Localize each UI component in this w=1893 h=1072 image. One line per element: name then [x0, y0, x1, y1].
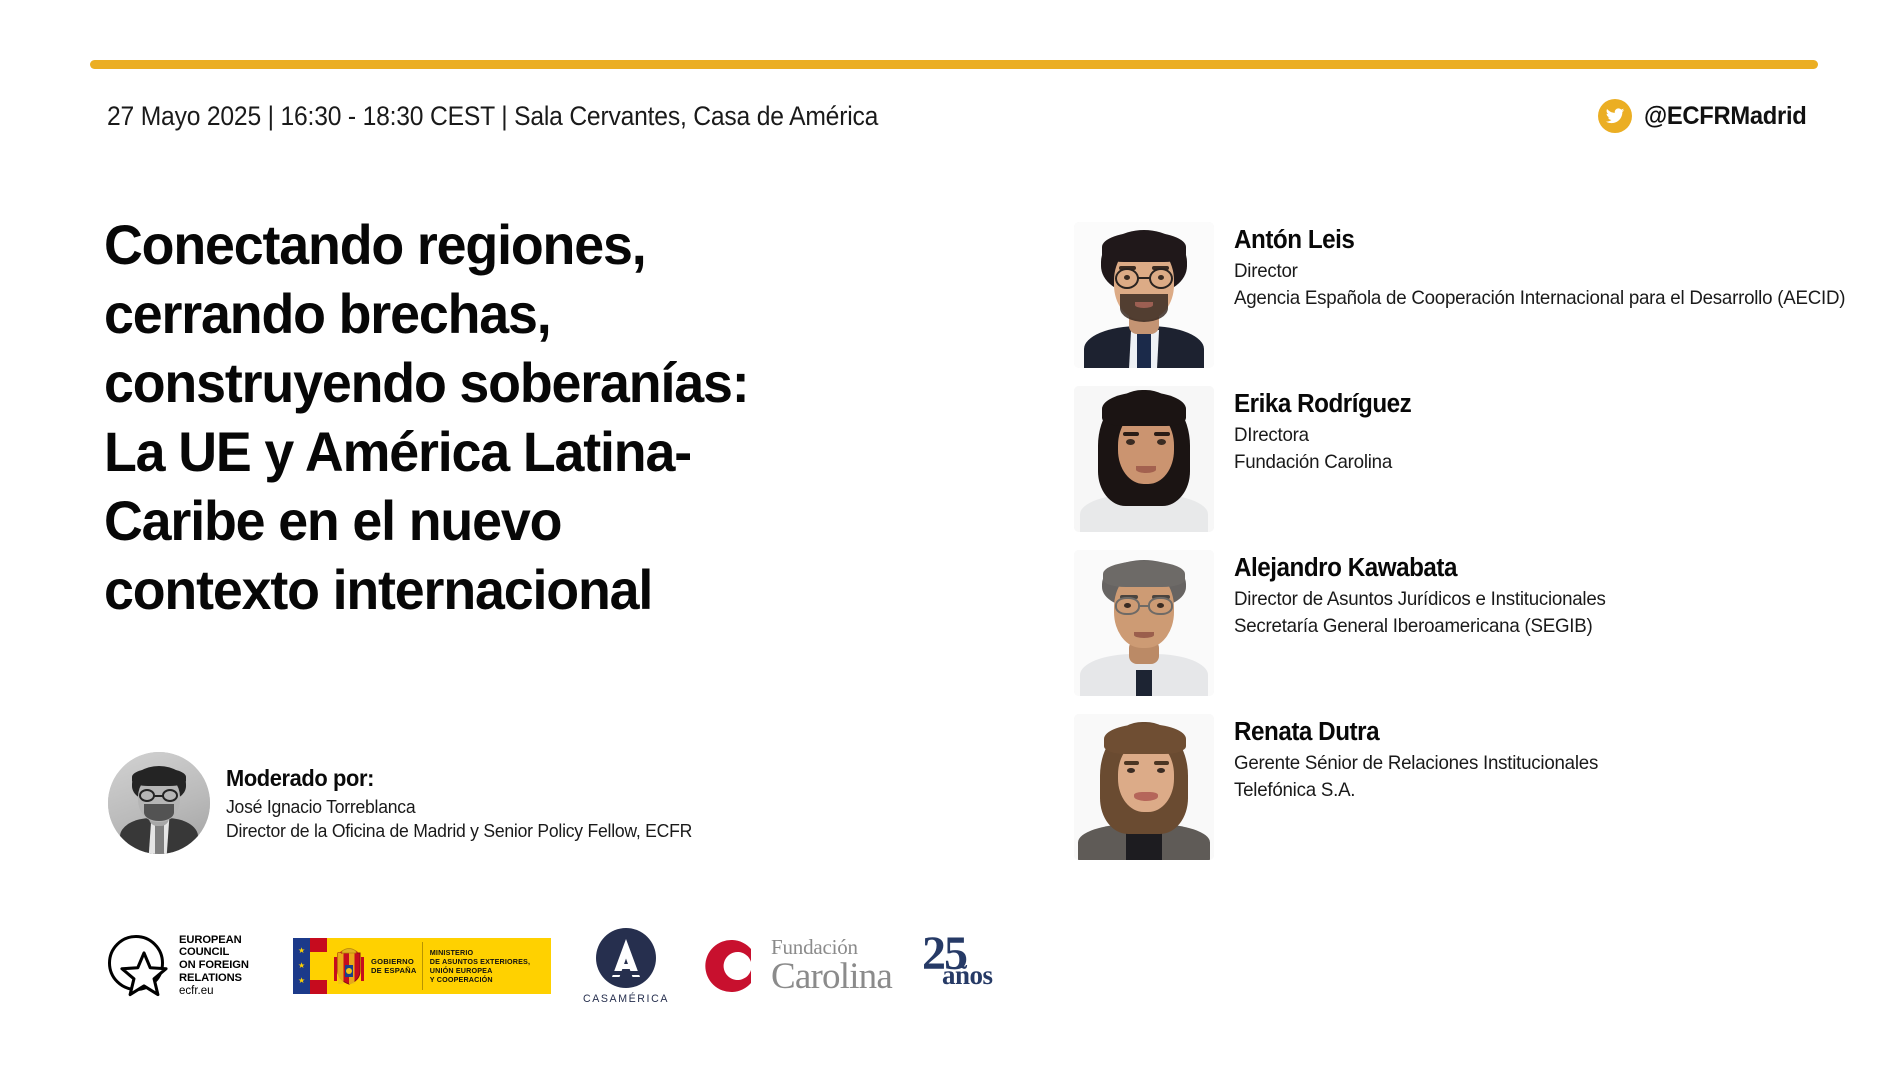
gobierno-line-2: DE ESPAÑA — [371, 966, 422, 976]
speaker-photo — [1074, 550, 1214, 696]
speaker-item: Renata Dutra Gerente Sénior de Relacione… — [1074, 714, 1874, 860]
fundacion-carolina-logo: Fundación Carolina — [697, 935, 892, 997]
speaker-role: DIrectora — [1234, 422, 1413, 449]
moderator-name: José Ignacio Torreblanca — [226, 795, 692, 819]
speaker-role: Director de Asuntos Jurídicos e Instituc… — [1234, 586, 1606, 613]
spain-eu-flag-icon: ★ ★ ★ — [293, 938, 327, 994]
speaker-org: Agencia Española de Cooperación Internac… — [1234, 285, 1845, 312]
ecfr-line-2: COUNCIL — [179, 946, 249, 959]
sponsor-logo-strip: EUROPEAN COUNCIL ON FOREIGN RELATIONS ec… — [108, 920, 1000, 1012]
speaker-name: Alejandro Kawabata — [1234, 554, 1602, 583]
title-line-3: construyendo soberanías: — [104, 348, 891, 417]
moderator-heading: Moderado por: — [226, 765, 692, 792]
speaker-org: Fundación Carolina — [1234, 449, 1413, 476]
top-accent-rule — [90, 60, 1818, 69]
title-line-4: La UE y América Latina- — [104, 417, 891, 486]
speaker-name: Renata Dutra — [1234, 718, 1594, 747]
speaker-photo — [1074, 714, 1214, 860]
casa-america-wordmark: CASAMÉRICA — [579, 993, 673, 1005]
speaker-photo — [1074, 386, 1214, 532]
twitter-icon — [1598, 99, 1632, 133]
social-handle-group: @ECFRMadrid — [1598, 99, 1815, 133]
carolina-line-1: Fundación — [771, 936, 892, 958]
ecfr-line-4: RELATIONS — [179, 972, 249, 985]
ecfr-logo: EUROPEAN COUNCIL ON FOREIGN RELATIONS ec… — [108, 934, 263, 998]
title-line-6: contexto internacional — [104, 555, 891, 624]
speaker-org: Telefónica S.A. — [1234, 777, 1598, 804]
title-line-2: cerrando brechas, — [104, 279, 891, 348]
event-meta-line: 27 Mayo 2025 | 16:30 - 18:30 CEST | Sala… — [107, 101, 878, 132]
casa-america-a-icon — [595, 927, 657, 989]
aniversario-word: años — [942, 962, 993, 989]
social-handle-text: @ECFRMadrid — [1644, 102, 1807, 131]
moderator-avatar — [108, 752, 210, 854]
title-line-5: Caribe en el nuevo — [104, 486, 891, 555]
carolina-line-2: Carolina — [771, 958, 892, 996]
speakers-list: Antón Leis Director Agencia Española de … — [1074, 222, 1874, 878]
moderator-role: Director de la Oficina de Madrid y Senio… — [226, 819, 692, 843]
ecfr-line-3: ON FOREIGN — [179, 959, 249, 972]
gobierno-line-1: GOBIERNO — [371, 957, 422, 967]
speaker-name: Antón Leis — [1234, 226, 1839, 255]
speaker-item: Erika Rodríguez DIrectora Fundación Caro… — [1074, 386, 1874, 532]
speaker-name: Erika Rodríguez — [1234, 390, 1411, 419]
carolina-c-icon — [697, 935, 759, 997]
ministerio-line-3: Y COOPERACIÓN — [430, 975, 547, 984]
ecfr-star-icon — [108, 935, 170, 997]
ministerio-line-2: DE ASUNTOS EXTERIORES, UNIÓN EUROPEA — [430, 957, 547, 975]
speaker-org: Secretaría General Iberoamericana (SEGIB… — [1234, 613, 1606, 640]
gobierno-de-espana-logo: ★ ★ ★ — [293, 938, 551, 994]
speaker-item: Antón Leis Director Agencia Española de … — [1074, 222, 1874, 368]
spain-coat-of-arms-icon — [327, 938, 371, 994]
event-poster: 27 Mayo 2025 | 16:30 - 18:30 CEST | Sala… — [0, 0, 1893, 1072]
ecfr-line-1: EUROPEAN — [179, 934, 249, 947]
speaker-photo — [1074, 222, 1214, 368]
speaker-item: Alejandro Kawabata Director de Asuntos J… — [1074, 550, 1874, 696]
moderator-block: Moderado por: José Ignacio Torreblanca D… — [108, 752, 717, 854]
ministerio-line-1: MINISTERIO — [430, 948, 547, 957]
aniversario-25-logo: 25 años — [922, 934, 1000, 998]
event-title: Conectando regiones, cerrando brechas, c… — [104, 210, 891, 624]
title-line-1: Conectando regiones, — [104, 210, 891, 279]
ecfr-url: ecfr.eu — [179, 984, 249, 998]
speaker-role: Gerente Sénior de Relaciones Institucion… — [1234, 750, 1598, 777]
casa-america-logo: CASAMÉRICA — [579, 927, 673, 1005]
speaker-role: Director — [1234, 258, 1845, 285]
